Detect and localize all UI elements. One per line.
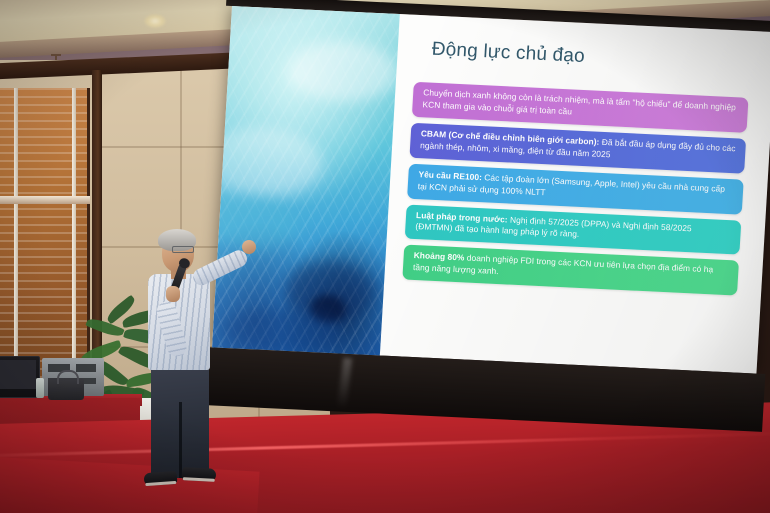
handbag bbox=[48, 378, 84, 400]
eyeglasses-icon bbox=[172, 246, 194, 253]
window-frame bbox=[14, 88, 18, 388]
blinds-sash bbox=[0, 196, 90, 204]
speaker-shoe-left bbox=[144, 471, 178, 486]
speaker-shoe-right bbox=[182, 467, 217, 482]
ceiling-downlight bbox=[144, 14, 166, 28]
slide-title: Động lực chủ đạo bbox=[431, 39, 763, 77]
speaker-arm-raised bbox=[190, 247, 250, 288]
water-bottle bbox=[36, 378, 44, 398]
speaker-hand-raised bbox=[242, 240, 256, 254]
speaker-hand-mic bbox=[166, 286, 180, 302]
slide-bullet: Khoảng 80% doanh nghiệp FDI trong các KC… bbox=[402, 245, 739, 296]
trouser-seam bbox=[179, 402, 182, 478]
bullet-lead: Yêu cầu RE100: bbox=[418, 169, 482, 182]
bullet-lead: Khoảng 80% bbox=[413, 250, 464, 262]
window-frame bbox=[72, 88, 76, 388]
projection-screen: Động lực chủ đạo Chuyển dịch xanh không … bbox=[209, 6, 770, 431]
photo-scene: Động lực chủ đạo Chuyển dịch xanh không … bbox=[0, 0, 770, 513]
slide-content: Động lực chủ đạo Chuyển dịch xanh không … bbox=[380, 14, 770, 374]
laptop[interactable] bbox=[0, 356, 40, 398]
slide-surface: Động lực chủ đạo Chuyển dịch xanh không … bbox=[212, 6, 770, 374]
slide-bullet-list: Chuyển dịch xanh không còn là trách nhiệ… bbox=[400, 82, 760, 297]
speaker-presenter bbox=[138, 232, 268, 500]
bullet-text: Chuyển dịch xanh không còn là trách nhiệ… bbox=[422, 87, 736, 116]
